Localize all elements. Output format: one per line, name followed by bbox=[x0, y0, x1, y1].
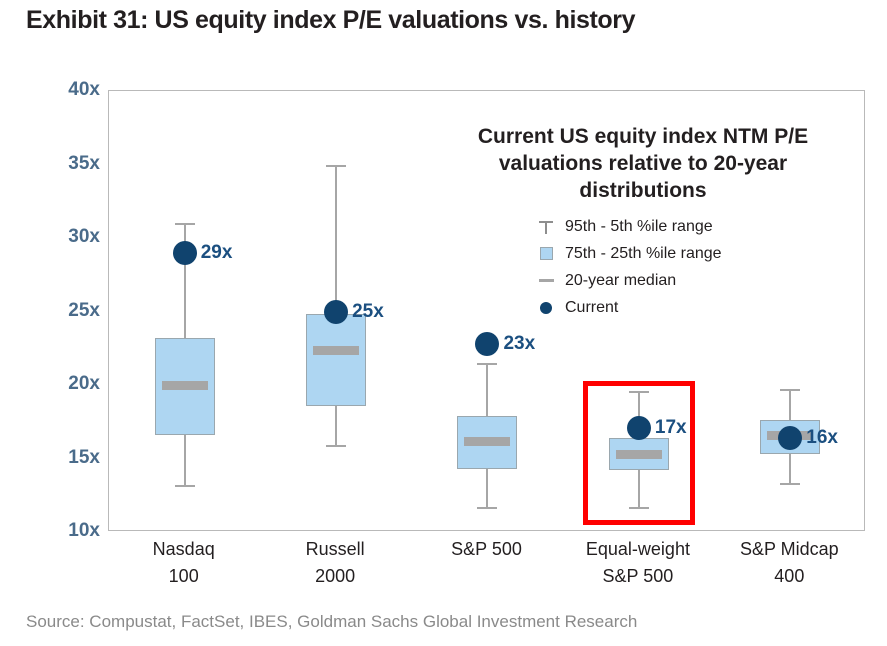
x-axis-tick-label: S&P Midcap400 bbox=[714, 536, 865, 598]
x-axis: Nasdaq100Russell2000S&P 500Equal-weightS… bbox=[108, 536, 865, 598]
whisker-cap-lower bbox=[175, 485, 195, 487]
gray-dash-icon-glyph bbox=[539, 279, 554, 282]
x-tick-line-1: Nasdaq bbox=[108, 536, 259, 563]
legend-heading-line-2: valuations relative to 20-year bbox=[499, 152, 787, 175]
box-plot[interactable]: 25x bbox=[260, 91, 411, 530]
whisker-cap-icon-glyph bbox=[539, 220, 553, 234]
navy-dot-icon bbox=[533, 302, 559, 314]
whisker-cap-upper bbox=[780, 389, 800, 391]
x-axis-tick-label: S&P 500 bbox=[411, 536, 562, 598]
y-axis-tick-label: 40x bbox=[40, 79, 100, 101]
whisker-cap-icon bbox=[533, 220, 559, 234]
current-value-dot[interactable] bbox=[475, 332, 499, 356]
page-title: Exhibit 31: US equity index P/E valuatio… bbox=[26, 6, 635, 35]
legend-heading-line-1: Current US equity index NTM P/E bbox=[478, 125, 808, 148]
whisker-cap-lower bbox=[780, 483, 800, 485]
y-axis: 10x15x20x25x30x35x40x bbox=[28, 90, 100, 531]
whisker-cap-lower bbox=[326, 445, 346, 447]
y-axis-tick-label: 20x bbox=[40, 373, 100, 395]
legend-item-label: 75th - 25th %ile range bbox=[559, 245, 722, 263]
x-axis-tick-label: Nasdaq100 bbox=[108, 536, 259, 598]
x-tick-line-1: Russell bbox=[259, 536, 410, 563]
y-axis-tick-label: 35x bbox=[40, 153, 100, 175]
x-axis-tick-label: Equal-weightS&P 500 bbox=[562, 536, 713, 598]
current-value-label: 17x bbox=[655, 417, 687, 439]
whisker-cap-upper bbox=[477, 363, 497, 365]
blue-square-icon-glyph bbox=[540, 247, 553, 260]
whisker-cap-upper bbox=[175, 223, 195, 225]
source-note: Source: Compustat, FactSet, IBES, Goldma… bbox=[26, 612, 637, 632]
box-plot[interactable]: 29x bbox=[109, 91, 260, 530]
x-tick-line-2: S&P 500 bbox=[562, 563, 713, 590]
median-marker bbox=[313, 346, 359, 355]
legend-item[interactable]: 75th - 25th %ile range bbox=[533, 240, 853, 267]
legend-items: 95th - 5th %ile range75th - 25th %ile ra… bbox=[433, 213, 853, 321]
navy-dot-icon-glyph bbox=[540, 302, 552, 314]
legend-item-label: Current bbox=[559, 299, 618, 317]
x-tick-line-2: 400 bbox=[714, 563, 865, 590]
legend-item[interactable]: 95th - 5th %ile range bbox=[533, 213, 853, 240]
median-marker bbox=[162, 381, 208, 390]
plot-area: 29x25x23x17x16x Current US equity index … bbox=[108, 90, 865, 531]
whisker-cap-lower bbox=[477, 507, 497, 509]
current-value-label: 23x bbox=[503, 333, 535, 355]
y-axis-tick-label: 25x bbox=[40, 300, 100, 322]
current-value-label: 25x bbox=[352, 301, 384, 323]
blue-square-icon bbox=[533, 247, 559, 260]
whisker-cap-lower bbox=[629, 507, 649, 509]
chart-figure: 10x15x20x25x30x35x40x 29x25x23x17x16x Cu… bbox=[0, 70, 887, 600]
current-value-label: 16x bbox=[806, 427, 838, 449]
y-axis-tick-label: 10x bbox=[40, 520, 100, 542]
x-tick-line-2: 100 bbox=[108, 563, 259, 590]
current-value-dot[interactable] bbox=[627, 416, 651, 440]
median-marker bbox=[464, 437, 510, 446]
whisker-cap-upper bbox=[629, 391, 649, 393]
current-value-label: 29x bbox=[201, 242, 233, 264]
legend-item-label: 95th - 5th %ile range bbox=[559, 218, 713, 236]
legend-item[interactable]: Current bbox=[533, 294, 853, 321]
y-axis-tick-label: 15x bbox=[40, 447, 100, 469]
x-axis-tick-label: Russell2000 bbox=[259, 536, 410, 598]
median-marker bbox=[616, 450, 662, 459]
x-tick-line-1: S&P 500 bbox=[411, 536, 562, 563]
x-tick-line-1: S&P Midcap bbox=[714, 536, 865, 563]
current-value-dot[interactable] bbox=[324, 300, 348, 324]
legend-heading-line-3: distributions bbox=[579, 179, 706, 202]
current-value-dot[interactable] bbox=[173, 241, 197, 265]
legend-item-label: 20-year median bbox=[559, 272, 676, 290]
legend-item[interactable]: 20-year median bbox=[533, 267, 853, 294]
y-axis-tick-label: 30x bbox=[40, 226, 100, 248]
x-tick-line-2: 2000 bbox=[259, 563, 410, 590]
interquartile-box bbox=[306, 314, 366, 405]
x-tick-line-1: Equal-weight bbox=[562, 536, 713, 563]
chart-legend: Current US equity index NTM P/E valuatio… bbox=[433, 123, 853, 321]
legend-heading: Current US equity index NTM P/E valuatio… bbox=[433, 123, 853, 204]
whisker-cap-upper bbox=[326, 165, 346, 167]
gray-dash-icon bbox=[533, 279, 559, 282]
